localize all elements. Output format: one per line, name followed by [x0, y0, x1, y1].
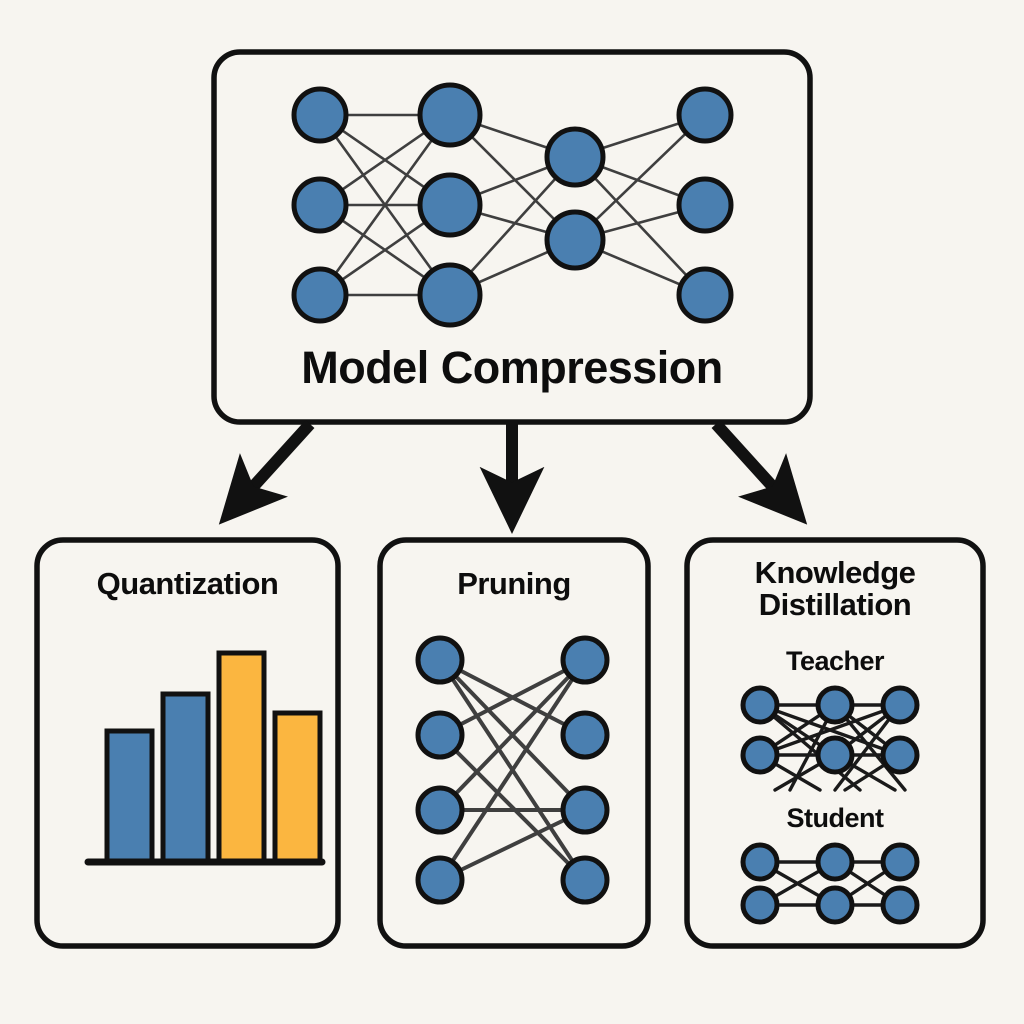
diagram-graphics: [0, 0, 1024, 1024]
bar-2: [163, 694, 208, 862]
student-label: Student: [685, 805, 985, 833]
arrow-to-quantization: [243, 424, 310, 498]
bar-1: [107, 731, 152, 862]
bar-3: [219, 653, 264, 862]
branch-arrows: [243, 424, 783, 498]
arrow-to-knowledge-distillation: [716, 424, 783, 498]
kd-title-line-1: Knowledge: [685, 557, 985, 589]
pruning-title: Pruning: [378, 568, 650, 600]
model-compression-title: Model Compression: [212, 345, 812, 391]
quantization-title: Quantization: [35, 568, 340, 600]
kd-title-line-2: Distillation: [685, 589, 985, 621]
diagram-canvas: Model Compression Quantization Pruning K…: [0, 0, 1024, 1024]
bar-4: [275, 713, 320, 862]
knowledge-distillation-title: Knowledge Distillation: [685, 557, 985, 620]
teacher-label: Teacher: [685, 648, 985, 676]
